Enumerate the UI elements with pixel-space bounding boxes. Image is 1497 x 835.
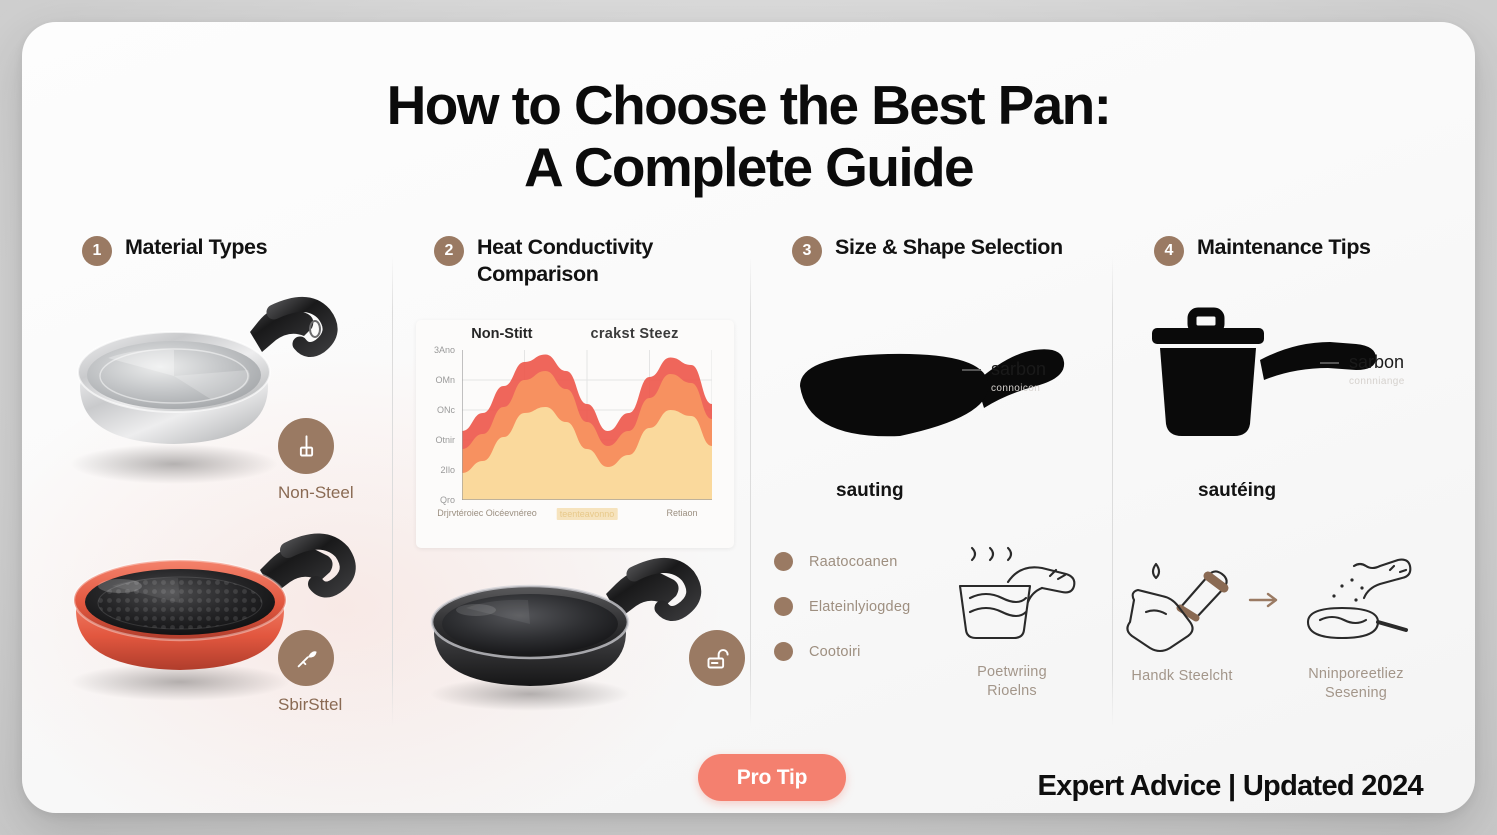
caption-line-2: Sesening <box>1325 685 1387 701</box>
section-header-3: 3 Size & Shape Selection <box>792 234 1094 296</box>
page-title: How to Choose the Best Pan: A Complete G… <box>22 74 1475 198</box>
hand-holding-brush-icon <box>1122 556 1242 656</box>
x-tick: teenteavonno <box>557 508 618 520</box>
caption-line-2: Rioelns <box>987 683 1037 699</box>
section-title: Material Types <box>125 234 267 261</box>
x-tick: Drjrvtéroiec Oicéevnéreo <box>437 508 537 518</box>
y-tick: Otnir <box>435 435 455 445</box>
section-title: Size & Shape Selection <box>835 234 1063 261</box>
chart-plot-area: 3Ano OMn ONc Otnir 2Ilo Qro Drjrvtéroiec… <box>462 350 712 500</box>
badge-group-non-steel: Non-Steel <box>278 418 354 503</box>
bullet-label: Elateinlyiogdeg <box>809 599 910 615</box>
pan-label-subtext: connoicon <box>991 383 1046 394</box>
column-divider <box>392 256 393 726</box>
step-2-group: Nninporeetliez Sesening <box>1294 552 1418 703</box>
pot-label-subtext: connniange <box>1349 376 1405 387</box>
section-number-badge: 4 <box>1154 236 1184 266</box>
pan-caption: sauting <box>836 480 904 502</box>
sections-grid: 1 Material Types <box>40 234 1457 734</box>
badge-group-lock <box>689 630 745 686</box>
dash-icon <box>1320 362 1339 364</box>
dash-icon <box>962 369 981 371</box>
y-tick: 3Ano <box>434 345 455 355</box>
step-1-caption: Handk Steelcht <box>1122 667 1242 686</box>
caption-line-1: Nninporeetliez <box>1308 666 1404 682</box>
heat-conductivity-chart: Non-Stitt crakst Steez 3Ano OMn ONc Otni… <box>416 320 734 548</box>
padlock-unlocked-icon[interactable] <box>689 630 745 686</box>
badge-caption: SbirSttel <box>278 695 342 715</box>
bullet-icon <box>774 597 793 616</box>
title-line-2: A Complete Guide <box>142 136 1355 198</box>
badge-caption: Non-Steel <box>278 483 354 503</box>
list-item: Elateinlyiogdeg <box>774 597 910 616</box>
legend-item-2: crakst Steez <box>590 326 678 342</box>
section-header-4: 4 Maintenance Tips <box>1154 234 1439 296</box>
chart-legend: Non-Stitt crakst Steez <box>416 326 734 342</box>
section-number-badge: 2 <box>434 236 464 266</box>
hand-seasoning-pan-icon <box>1294 552 1418 656</box>
bullet-icon <box>774 552 793 571</box>
spatula-icon[interactable] <box>278 418 334 474</box>
section-maintenance-tips: 4 Maintenance Tips sarbon connniange sau… <box>1112 234 1457 734</box>
caption-line-1: Poetwriing <box>977 664 1047 680</box>
hand-washing-pan-icon <box>946 546 1078 654</box>
step-1-group: Handk Steelcht <box>1122 556 1242 686</box>
legend-item-1: Non-Stitt <box>471 326 532 342</box>
badge-group-stainless: SbirSttel <box>278 630 342 715</box>
y-tick: Qro <box>440 495 455 505</box>
infographic-card: How to Choose the Best Pan: A Complete G… <box>22 22 1475 813</box>
pot-label: sarbon <box>1320 352 1405 373</box>
list-item: Cootoiri <box>774 642 910 661</box>
list-item: Raatocoanen <box>774 552 910 571</box>
section-size-shape: 3 Size & Shape Selection sarbon connoico… <box>750 234 1112 734</box>
y-tick: ONc <box>437 405 455 415</box>
pro-tip-badge[interactable]: Pro Tip <box>698 754 846 801</box>
step-2-caption: Nninporeetliez Sesening <box>1294 665 1418 703</box>
section-number-badge: 3 <box>792 236 822 266</box>
column-divider <box>1112 256 1113 726</box>
bullet-label: Cootoiri <box>809 644 861 660</box>
pan-label-text: sarbon <box>991 359 1046 380</box>
bullet-icon <box>774 642 793 661</box>
y-tick: 2Ilo <box>440 465 455 475</box>
section-heat-conductivity: 2 Heat Conductivity Comparison Non-Stitt… <box>392 234 750 734</box>
column-divider <box>750 256 751 726</box>
section-title: Heat Conductivity Comparison <box>477 234 707 288</box>
section-material-types: 1 Material Types <box>40 234 392 734</box>
washing-illustration-group: Poetwriing Rioelns <box>946 546 1078 701</box>
pan-label: sarbon <box>962 359 1046 380</box>
section-header-2: 2 Heat Conductivity Comparison <box>434 234 732 296</box>
chart-areas <box>462 350 712 500</box>
pan-label-group: sarbon connoicon <box>962 359 1046 394</box>
feature-bullet-list: Raatocoanen Elateinlyiogdeg Cootoiri <box>774 552 910 687</box>
title-line-1: How to Choose the Best Pan: <box>142 74 1355 136</box>
arrow-right-icon <box>1248 590 1282 610</box>
section-number-badge: 1 <box>82 236 112 266</box>
footer-note: Expert Advice | Updated 2024 <box>1037 770 1423 803</box>
section-title: Maintenance Tips <box>1197 234 1371 261</box>
y-tick: OMn <box>435 375 455 385</box>
section-header-1: 1 Material Types <box>82 234 374 296</box>
dark-nonstick-pan-image <box>420 552 730 722</box>
whisk-icon[interactable] <box>278 630 334 686</box>
pot-caption: sautéing <box>1198 480 1276 502</box>
illustration-caption: Poetwriing Rioelns <box>946 663 1078 701</box>
x-tick: Retiaon <box>666 508 697 518</box>
bullet-label: Raatocoanen <box>809 554 897 570</box>
pot-label-group: sarbon connniange <box>1320 352 1405 387</box>
pot-label-text: sarbon <box>1349 352 1404 373</box>
